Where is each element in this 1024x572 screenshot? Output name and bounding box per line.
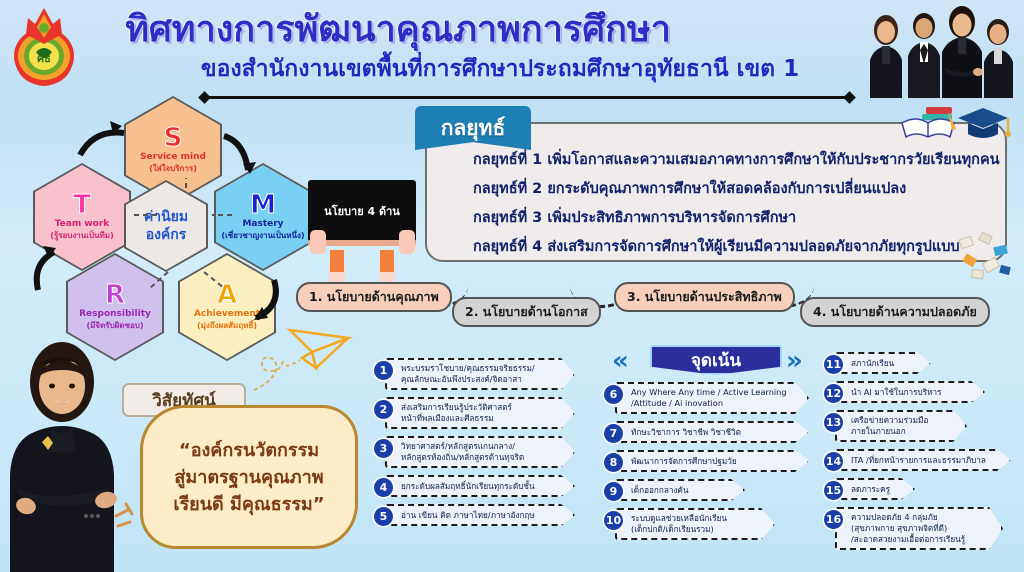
hex-letter: A	[217, 283, 237, 307]
focus-text-line1: ลดภาระครู	[851, 484, 890, 495]
focus-item[interactable]: 14 ITA /ที่ยกหน้ารายการและธรรมาภิบาล	[824, 449, 1024, 471]
focus-arrow: ความปลอดภัย 4 กลุ่มภัย (สุขภาพกาย สุขภาพ…	[835, 507, 1003, 550]
focus-item[interactable]: 12 นำ AI มาใช้ในการบริหาร	[824, 381, 1024, 403]
focus-text-line1: ความปลอดภัย 4 กลุ่มภัย	[851, 512, 965, 523]
hex-letter: R	[105, 283, 125, 307]
focus-arrow: พัฒนาการจัดการศึกษาปฐมวัย	[615, 450, 809, 472]
focus-text-line1: วิทยาศาสตร์/หลักสูตรแกนกลาง/	[401, 441, 524, 452]
focus-number: 8	[604, 453, 623, 472]
focus-text-line2: (เด็กปกติ/เด็กเรียนรวม)	[631, 524, 727, 535]
focus-item[interactable]: 1 พระบรมราโชบาย/คุณธรรมจริยธรรม/ คุณลักษ…	[374, 358, 594, 390]
page-subtitle: ของสำนักงานเขตพื้นที่การศึกษาประถมศึกษาอ…	[150, 54, 850, 84]
policy-pill-safety[interactable]: 4. นโยบายด้านความปลอดภัย	[800, 297, 990, 327]
focus-column-2: 6 Any Where Any time / Active Learning /…	[604, 382, 824, 547]
focus-number: 16	[824, 510, 843, 529]
hex-letter: T	[73, 193, 91, 217]
focus-text-line2: หลักสูตรท้องถิ่น/หลักสูตรต้านทุจริต	[401, 452, 524, 463]
focus-number: 1	[374, 361, 393, 380]
confetti-icon	[954, 232, 1016, 282]
focus-text-line1: สภานักเรียน	[851, 358, 894, 369]
strategy-line-4: กลยุทธ์ที่ 4 ส่งเสริมการจัดการศึกษาให้ผู…	[473, 235, 960, 258]
focus-item[interactable]: 5 อ่าน เขียน คิด ภาษาไทย/ภาษาอังกฤษ	[374, 504, 594, 526]
focus-item[interactable]: 8 พัฒนาการจัดการศึกษาปฐมวัย	[604, 450, 824, 472]
blackboard-text: นโยบาย 4 ด้าน	[324, 202, 400, 220]
figure-hand-right	[399, 230, 415, 254]
focus-item[interactable]: 6 Any Where Any time / Active Learning /…	[604, 382, 824, 414]
executive-team-photo	[856, 2, 1018, 98]
hex-letter: M	[250, 193, 276, 217]
focus-text-line1: พัฒนาการจัดการศึกษาปฐมวัย	[631, 456, 737, 467]
policy-pill-quality[interactable]: 1. นโยบายด้านคุณภาพ	[296, 282, 452, 312]
hex-label-th: (มุ่งถึงผลสัมฤทธิ์)	[197, 320, 257, 331]
focus-text-line1: เด็กออกกลางคัน	[631, 485, 689, 496]
focus-arrow: อ่าน เขียน คิด ภาษาไทย/ภาษาอังกฤษ	[385, 504, 575, 526]
focus-arrow: ยกระดับผลสัมฤทธิ์นักเรียนทุกระดับชั้น	[385, 475, 575, 497]
paper-plane-icon	[286, 318, 356, 378]
focus-column-1: 1 พระบรมราโชบาย/คุณธรรมจริยธรรม/ คุณลักษ…	[374, 358, 594, 533]
focus-item[interactable]: 15 ลดภาระครู	[824, 478, 1024, 500]
strategy-line-2: กลยุทธ์ที่ 2 ยกระดับคุณภาพการศึกษาให้สอด…	[473, 177, 906, 200]
focus-item[interactable]: 4 ยกระดับผลสัมฤทธิ์นักเรียนทุกระดับชั้น	[374, 475, 594, 497]
focus-number: 14	[824, 452, 843, 471]
focus-number: 13	[824, 413, 843, 432]
focus-banner-label: จุดเน้น	[650, 345, 782, 375]
strategy-line-3: กลยุทธ์ที่ 3 เพิ่มประสิทธิภาพการบริหารจั…	[473, 206, 796, 229]
focus-arrow: เครือข่ายความร่วมมือ ภายในภายนอก	[835, 410, 967, 442]
focus-item[interactable]: 13 เครือข่ายความร่วมมือ ภายในภายนอก	[824, 410, 1024, 442]
core-values-line2: องค์กร	[146, 226, 187, 244]
hex-label-en: Service mind	[140, 152, 206, 163]
moe-garuda-emblem: ศธ	[8, 4, 80, 86]
focus-item[interactable]: 3 วิทยาศาสตร์/หลักสูตรแกนกลาง/ หลักสูตรท…	[374, 436, 594, 468]
hex-label-en: Team work	[55, 219, 110, 230]
policy-pill-opportunity[interactable]: 2. นโยบายด้านโอกาส	[452, 297, 601, 327]
svg-text:ศธ: ศธ	[37, 52, 51, 65]
focus-item[interactable]: 16 ความปลอดภัย 4 กลุ่มภัย (สุขภาพกาย สุข…	[824, 507, 1024, 550]
focus-arrow: พระบรมราโชบาย/คุณธรรมจริยธรรม/ คุณลักษณะ…	[385, 358, 575, 390]
hex-letter: S	[164, 126, 183, 150]
hex-label-th: (มีจิตรับผิดชอบ)	[86, 320, 143, 331]
open-book-icon	[900, 103, 960, 143]
focus-text-line2: หน้าที่พลเมืองและศีลธรรม	[401, 413, 512, 424]
focus-number: 4	[374, 478, 393, 497]
figure-arm-right	[380, 250, 394, 272]
focus-number: 10	[604, 511, 623, 530]
core-values-line1: ค่านิยม	[144, 208, 188, 226]
focus-arrow: เด็กออกกลางคัน	[615, 479, 745, 501]
focus-number: 6	[604, 385, 623, 404]
focus-number: 11	[824, 355, 843, 374]
focus-number: 12	[824, 384, 843, 403]
focus-item[interactable]: 11 สภานักเรียน	[824, 352, 1024, 374]
focus-number: 15	[824, 481, 843, 500]
focus-arrow: Any Where Any time / Active Learning /At…	[615, 382, 809, 414]
hex-fill: ค่านิยม องค์กร	[126, 182, 206, 270]
vision-line-3: เรียนดี มีคุณธรรม”	[173, 491, 324, 518]
focus-arrow: ITA /ที่ยกหน้ารายการและธรรมาภิบาล	[835, 449, 1011, 471]
presenter-photo	[0, 338, 150, 572]
page-title: ทิศทางการพัฒนาคุณภาพการศึกษา	[78, 8, 718, 52]
chevron-right-icon: »	[786, 346, 803, 376]
focus-text-line1: ระบบดูแลช่วยเหลือนักเรียน	[631, 513, 727, 524]
title-divider	[204, 96, 850, 99]
vision-statement: “องค์กรนวัตกรรม สู่มาตรฐานคุณภาพ เรียนดี…	[140, 405, 358, 549]
focus-text-line2: /Attitude / Ai inovation	[631, 398, 787, 409]
focus-text-line3: /สะอาดสวยงามเอื้อต่อการเรียนรู้	[851, 534, 965, 545]
focus-text-line2: (สุขภาพกาย สุขภาพจิตที่ดี)	[851, 523, 965, 534]
hex-label-en: Responsibility	[79, 309, 151, 320]
focus-arrow: วิทยาศาสตร์/หลักสูตรแกนกลาง/ หลักสูตรท้อ…	[385, 436, 575, 468]
focus-text-line1: Any Where Any time / Active Learning	[631, 387, 787, 398]
focus-text-line1: อ่าน เขียน คิด ภาษาไทย/ภาษาอังกฤษ	[401, 510, 535, 521]
focus-arrow: ระบบดูแลช่วยเหลือนักเรียน (เด็กปกติ/เด็ก…	[615, 508, 775, 540]
focus-number: 7	[604, 424, 623, 443]
focus-text-line1: นำ AI มาใช้ในการบริหาร	[851, 387, 942, 398]
focus-text-line1: เครือข่ายความร่วมมือ	[851, 415, 928, 426]
focus-text-line1: ทักษะวิชาการ วิชาชีพ วิชาชีวิต	[631, 427, 741, 438]
chevron-left-icon: «	[612, 346, 629, 376]
figure-hand-left	[310, 230, 326, 254]
focus-number: 2	[374, 400, 393, 419]
focus-column-3: 11 สภานักเรียน 12 นำ AI มาใช้ในการบริหาร…	[824, 352, 1024, 557]
hex-label-en: Mastery	[242, 219, 283, 230]
focus-arrow: นำ AI มาใช้ในการบริหาร	[835, 381, 985, 403]
focus-text-line1: พระบรมราโชบาย/คุณธรรมจริยธรรม/	[401, 363, 535, 374]
hex-core-values: ค่านิยม องค์กร	[124, 180, 208, 272]
policy-blackboard: นโยบาย 4 ด้าน	[300, 180, 425, 290]
focus-text-line2: ภายในภายนอก	[851, 426, 928, 437]
page-header: ศธ ทิศทางการพัฒนาคุณภาพการศึกษา ของสำนัก…	[0, 0, 1024, 100]
focus-item[interactable]: 10 ระบบดูแลช่วยเหลือนักเรียน (เด็กปกติ/เ…	[604, 508, 824, 540]
focus-text-line1: ยกระดับผลสัมฤทธิ์นักเรียนทุกระดับชั้น	[401, 481, 535, 492]
focus-number: 9	[604, 482, 623, 501]
focus-number: 3	[374, 439, 393, 458]
focus-arrow: ทักษะวิชาการ วิชาชีพ วิชาชีวิต	[615, 421, 809, 443]
focus-text-line2: คุณลักษณะอันพึงประสงค์/จิตอาสา	[401, 374, 535, 385]
hex-label-th: (รู้รอบงานเป็นทีม)	[50, 230, 113, 241]
hex-label-th: (ใส่ใจบริการ)	[149, 163, 197, 174]
focus-item[interactable]: 7 ทักษะวิชาการ วิชาชีพ วิชาชีวิต	[604, 421, 824, 443]
sparkle-icon	[112, 500, 146, 534]
vision-line-2: สู่มาตรฐานคุณภาพ	[174, 464, 323, 491]
focus-item[interactable]: 9 เด็กออกกลางคัน	[604, 479, 824, 501]
strategy-line-1: กลยุทธ์ที่ 1 เพิ่มโอกาสและความเสมอภาคทาง…	[473, 148, 1000, 171]
focus-text-line1: ส่งเสริมการเรียนรู้ประวัติศาสตร์	[401, 402, 512, 413]
hex-label-th: (เชี่ยวชาญงานเป็นหนึ่ง)	[221, 230, 304, 241]
focus-number: 5	[374, 507, 393, 526]
policy-pill-efficiency[interactable]: 3. นโยบายด้านประสิทธิภาพ	[614, 282, 795, 312]
focus-item[interactable]: 2 ส่งเสริมการเรียนรู้ประวัติศาสตร์ หน้าท…	[374, 397, 594, 429]
hex-label-en: Achievement	[194, 309, 260, 320]
focus-arrow: สภานักเรียน	[835, 352, 931, 374]
focus-text-line1: ITA /ที่ยกหน้ารายการและธรรมาภิบาล	[851, 455, 986, 466]
vision-line-1: “องค์กรนวัตกรรม	[179, 437, 319, 464]
focus-arrow: ลดภาระครู	[835, 478, 915, 500]
focus-arrow: ส่งเสริมการเรียนรู้ประวัติศาสตร์ หน้าที่…	[385, 397, 575, 429]
figure-arm-left	[330, 250, 344, 272]
graduation-cap-icon	[954, 104, 1012, 144]
